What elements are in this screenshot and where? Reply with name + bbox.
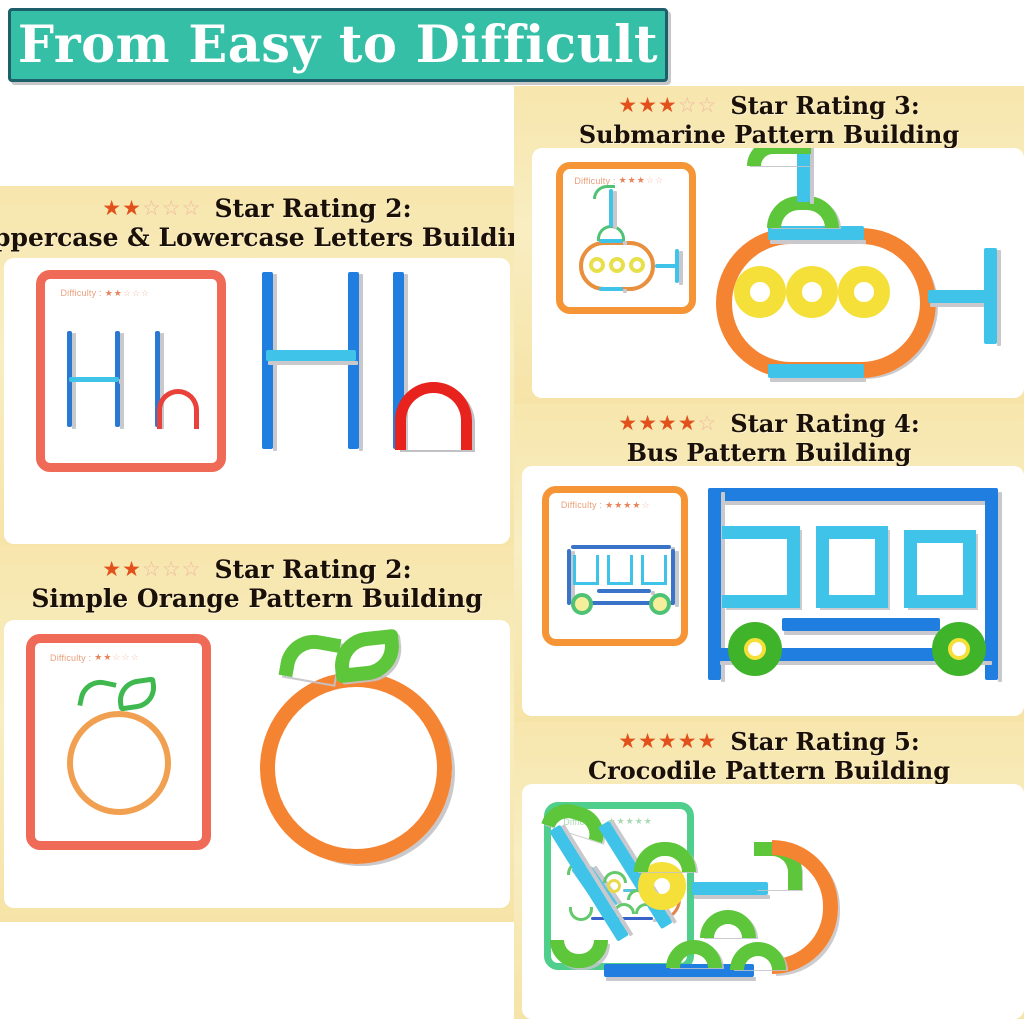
star-rating-submarine: ★ ★ ★ ☆ ☆ [618,95,716,116]
card-difficulty-orange: Difficulty : ★ ★ ☆ ☆ ☆ [50,653,139,663]
block-sub-window-1 [734,266,786,318]
section-subtitle: Uppercase & Lowercase Letters Building [0,223,543,252]
section-rating-label: Star Rating 2: [214,555,411,584]
section-subtitle: Submarine Pattern Building [579,120,959,149]
block-orange-leaf-left [278,629,341,684]
block-h-hump-arc [395,382,472,450]
star-empty-icon: ☆ [122,653,130,662]
block-bus-window-3 [904,530,976,608]
card-orange-body [67,711,171,815]
block-sub-periscope-hook [747,148,811,166]
card-orange-leaf-right [115,676,159,711]
card-sub-periscope-hook [593,185,615,199]
section-bus-header: ★ ★ ★ ★ ☆ Star Rating 4: Bus Pattern Bui… [514,404,1024,470]
card-bus-right-wall [671,549,675,605]
block-croc-bump-1 [700,910,756,938]
star-empty-icon: ☆ [142,198,161,219]
section-rating-label: Star Rating 2: [214,194,411,223]
block-bus-window-1 [722,526,800,608]
star-filled-icon: ★ [605,501,613,510]
card-bus-side-stripe [597,589,651,593]
star-empty-icon: ☆ [132,289,140,298]
photo-crocodile: Difficulty : ★ ★ ★ ★ ★ [522,784,1024,1019]
section-crocodile-header: ★ ★ ★ ★ ★ Star Rating 5: Crocodile Patte… [514,722,1024,788]
star-filled-icon: ★ [638,731,657,752]
section-bus: ★ ★ ★ ★ ☆ Star Rating 4: Bus Pattern Bui… [514,404,1024,722]
section-crocodile: ★ ★ ★ ★ ★ Star Rating 5: Crocodile Patte… [514,722,1024,1019]
star-filled-icon: ★ [626,817,634,826]
block-bus-side-stripe [782,618,940,631]
pattern-card-orange: Difficulty : ★ ★ ☆ ☆ ☆ [26,634,211,850]
card-difficulty-bus: Difficulty : ★ ★ ★ ★ ☆ [561,500,650,510]
star-rating-letters: ★ ★ ☆ ☆ ☆ [102,198,200,219]
section-subtitle: Simple Orange Pattern Building [31,584,482,613]
card-sub-window-1 [589,257,605,273]
star-filled-icon: ★ [658,413,677,434]
star-filled-icon: ★ [632,501,640,510]
star-filled-icon: ★ [658,731,677,752]
photo-submarine: Difficulty : ★ ★ ★ ☆ ☆ [532,148,1024,398]
card-sub-bottom-plate [599,287,623,291]
star-empty-icon: ☆ [141,289,149,298]
star-filled-icon: ★ [618,95,637,116]
star-filled-icon: ★ [122,559,141,580]
star-filled-icon: ★ [618,731,637,752]
card-bus-wheel-right [649,593,671,615]
section-submarine-header: ★ ★ ★ ☆ ☆ Star Rating 3: Submarine Patte… [514,86,1024,152]
block-bus-wheel-right-hub [952,642,966,656]
star-filled-icon: ★ [698,731,717,752]
star-empty-icon: ☆ [655,176,663,185]
difficulty-label: Difficulty : [50,653,91,663]
card-bus-roof [571,545,671,549]
difficulty-label: Difficulty : [60,288,101,298]
pattern-card-bus: Difficulty : ★ ★ ★ ★ ☆ [542,486,688,646]
star-empty-icon: ☆ [698,413,717,434]
star-filled-icon: ★ [637,176,645,185]
block-sub-tail-arm [928,290,990,303]
star-filled-icon: ★ [644,817,652,826]
star-filled-icon: ★ [122,198,141,219]
star-filled-icon: ★ [614,501,622,510]
section-orange-header: ★ ★ ☆ ☆ ☆ Star Rating 2: Simple Orange P… [0,546,514,620]
card-sub-window-2 [609,257,625,273]
star-filled-icon: ★ [617,817,625,826]
section-orange: ★ ★ ☆ ☆ ☆ Star Rating 2: Simple Orange P… [0,546,514,922]
card-bus-window-2 [607,555,633,585]
card-bus-left-wall [567,549,571,605]
section-letters-header: ★ ★ ☆ ☆ ☆ Star Rating 2: Uppercase & Low… [0,186,514,258]
block-croc-nose-arc [772,840,838,974]
block-orange-body-ring [260,672,452,864]
block-sub-tail-fin [984,248,997,344]
section-rating-label: Star Rating 5: [730,727,919,756]
block-sub-window-3 [838,266,890,318]
star-rating-bus: ★ ★ ★ ★ ☆ [618,413,716,434]
star-empty-icon: ☆ [646,176,654,185]
photo-orange: Difficulty : ★ ★ ☆ ☆ ☆ [4,620,510,908]
section-subtitle: Crocodile Pattern Building [588,756,950,785]
card-letter-H-cross [69,377,119,382]
page-title: From Easy to Difficult [18,20,658,71]
infographic-root: From Easy to Difficult ★ ★ ☆ ☆ ☆ Star Ra… [0,0,1024,1019]
card-sub-tail-fin [675,249,679,283]
star-filled-icon: ★ [638,95,657,116]
block-sub-bottom-plate [768,364,864,378]
star-filled-icon: ★ [94,653,102,662]
star-filled-icon: ★ [658,95,677,116]
card-bus-window-1 [573,555,599,585]
difficulty-stars: ★ ★ ☆ ☆ ☆ [94,653,138,662]
star-filled-icon: ★ [618,413,637,434]
star-rating-orange: ★ ★ ☆ ☆ ☆ [102,559,200,580]
star-filled-icon: ★ [619,176,627,185]
star-filled-icon: ★ [635,817,643,826]
star-filled-icon: ★ [103,653,111,662]
star-filled-icon: ★ [678,413,697,434]
section-submarine: ★ ★ ★ ☆ ☆ Star Rating 3: Submarine Patte… [514,86,1024,404]
star-filled-icon: ★ [638,413,657,434]
card-sub-window-3 [629,257,645,273]
star-filled-icon: ★ [102,198,121,219]
star-filled-icon: ★ [623,501,631,510]
star-filled-icon: ★ [628,176,636,185]
card-orange-leaf-left [77,676,116,712]
star-empty-icon: ☆ [162,559,181,580]
section-rating-label: Star Rating 4: [730,409,919,438]
card-sub-tower-arc [597,225,625,241]
star-empty-icon: ☆ [162,198,181,219]
star-filled-icon: ★ [678,731,697,752]
star-rating-crocodile: ★ ★ ★ ★ ★ [618,731,716,752]
pattern-card-letters: Difficulty : ★ ★ ☆ ☆ ☆ [36,270,226,472]
card-croc-foot [569,907,593,921]
card-difficulty-letters: Difficulty : ★ ★ ☆ ☆ ☆ [60,288,149,298]
star-filled-icon: ★ [102,559,121,580]
block-bus-roof [708,488,998,501]
difficulty-stars: ★ ★ ★ ☆ ☆ [619,176,663,185]
star-empty-icon: ☆ [142,559,161,580]
difficulty-stars: ★ ★ ☆ ☆ ☆ [105,289,149,298]
block-bus-window-2 [816,526,888,608]
star-filled-icon: ★ [105,289,113,298]
section-rating-label: Star Rating 3: [730,91,919,120]
difficulty-label: Difficulty : [561,500,602,510]
title-banner: From Easy to Difficult [8,8,668,82]
block-bus-wheel-left-hub [748,642,762,656]
star-empty-icon: ☆ [182,559,201,580]
section-subtitle: Bus Pattern Building [627,438,912,467]
block-sub-window-2 [786,266,838,318]
difficulty-stars: ★ ★ ★ ★ ☆ [605,501,649,510]
star-empty-icon: ☆ [698,95,717,116]
pattern-card-submarine: Difficulty : ★ ★ ★ ☆ ☆ [556,162,696,314]
star-filled-icon: ★ [114,289,122,298]
star-empty-icon: ☆ [641,501,649,510]
star-empty-icon: ☆ [123,289,131,298]
card-croc-brow [603,871,627,883]
star-empty-icon: ☆ [131,653,139,662]
card-bus-wheel-left [571,593,593,615]
section-letters: ★ ★ ☆ ☆ ☆ Star Rating 2: Uppercase & Low… [0,186,514,554]
card-difficulty-submarine: Difficulty : ★ ★ ★ ☆ ☆ [574,176,663,186]
block-sub-top-plate [768,226,864,240]
star-empty-icon: ☆ [182,198,201,219]
star-empty-icon: ☆ [678,95,697,116]
card-bus-window-3 [641,555,667,585]
photo-bus: Difficulty : ★ ★ ★ ★ ☆ [522,466,1024,716]
photo-letters: Difficulty : ★ ★ ☆ ☆ ☆ [4,258,510,544]
block-H-cross-stick [266,350,356,361]
card-letter-h-hump [157,389,199,429]
star-empty-icon: ☆ [112,653,120,662]
block-orange-leaf-right [332,629,403,684]
card-sub-tail-arm [655,264,677,268]
